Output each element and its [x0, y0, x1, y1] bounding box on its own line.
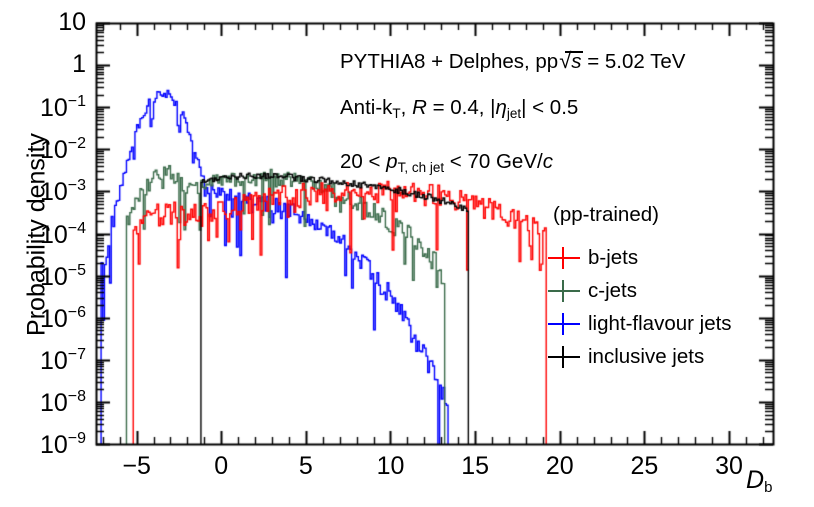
legend-entry-b-jets[interactable]: b-jets [546, 243, 638, 273]
legend-label: b-jets [588, 246, 638, 270]
annotation-jet-definition: Anti-kT, R = 0.4, |ηjet| < 0.5 [340, 98, 578, 121]
annotation-generator: PYTHIA8 + Delphes, pp√s = 5.02 TeV [340, 50, 685, 73]
y-tick-label: 10−2 [12, 136, 86, 163]
legend-marker-plus-icon [546, 245, 582, 271]
y-tick-label: 10 [12, 10, 86, 35]
legend-entry-inclusive-jets[interactable]: inclusive jets [546, 342, 704, 372]
legend-marker-plus-icon [546, 311, 582, 337]
legend-marker-plus-icon [546, 344, 582, 370]
legend-label: light-flavour jets [588, 312, 732, 336]
y-tick-label: 10−8 [12, 389, 86, 416]
x-tick-label: 5 [276, 454, 336, 479]
legend-title: (pp-trained) [553, 205, 659, 226]
x-tick-label: 25 [614, 454, 674, 479]
y-tick-label: 10−7 [12, 347, 86, 374]
legend-marker-plus-icon [546, 278, 582, 304]
legend-label: c-jets [588, 279, 637, 303]
legend-label: inclusive jets [588, 345, 704, 369]
x-tick-label: 10 [360, 454, 420, 479]
y-tick-label: 10−9 [12, 431, 86, 458]
annotation-pt-range: 20 < pT, ch jet < 70 GeV/c [340, 152, 553, 175]
y-tick-label: 10−6 [12, 305, 86, 332]
y-tick-label: 10−1 [12, 94, 86, 121]
x-tick-label: 30 [699, 454, 759, 479]
x-tick-label: 15 [445, 454, 505, 479]
x-tick-label: −5 [107, 454, 167, 479]
y-tick-label: 1 [12, 52, 86, 77]
legend-entry-light-flavour-jets[interactable]: light-flavour jets [546, 309, 732, 339]
x-tick-label: 20 [530, 454, 590, 479]
plot-canvas [0, 0, 814, 507]
y-tick-label: 10−4 [12, 221, 86, 248]
figure-canvas-area: Probability density Db 10110−110−210−310… [0, 0, 814, 507]
y-tick-label: 10−5 [12, 263, 86, 290]
x-tick-label: 0 [191, 454, 251, 479]
legend-entry-c-jets[interactable]: c-jets [546, 276, 637, 306]
x-axis-title-subscript: b [764, 479, 772, 496]
y-tick-label: 10−3 [12, 178, 86, 205]
